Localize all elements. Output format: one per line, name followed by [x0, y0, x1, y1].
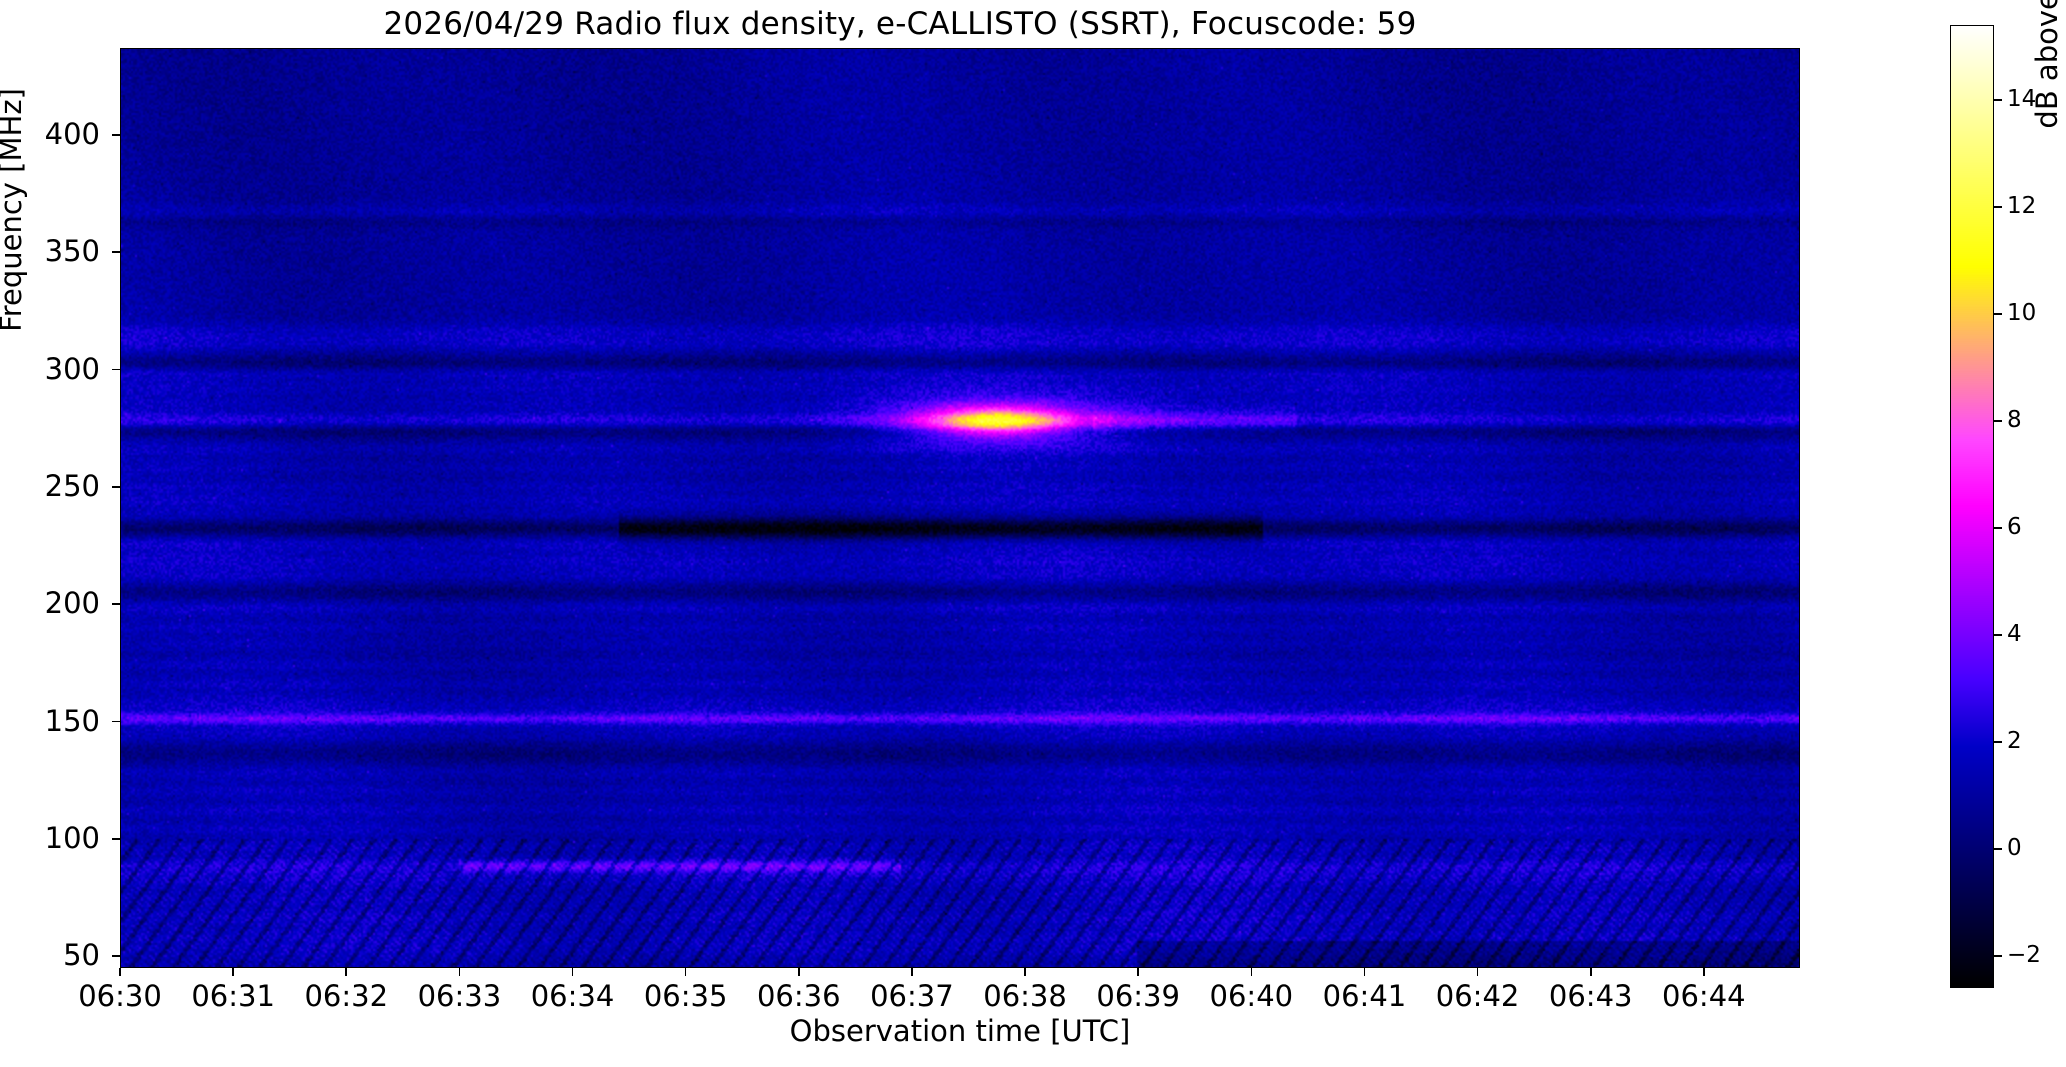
y-tick-label: 200	[16, 589, 100, 618]
colorbar-tick-label: 10	[2007, 302, 2066, 325]
x-tick-mark	[1024, 968, 1026, 976]
x-tick-mark	[1477, 968, 1479, 976]
colorbar-tick-label: −2	[2007, 944, 2066, 967]
colorbar-tick-label: 4	[2007, 623, 2066, 646]
x-tick-mark	[1364, 968, 1366, 976]
colorbar-label: dB above background	[2030, 0, 2064, 230]
x-tick-mark	[345, 968, 347, 976]
spectrogram-plot[interactable]	[120, 48, 1800, 968]
x-tick-mark	[685, 968, 687, 976]
x-tick-mark	[911, 968, 913, 976]
x-tick-mark	[1251, 968, 1253, 976]
y-tick-mark	[112, 721, 120, 723]
y-axis-label: Frequency [MHz]	[0, 50, 28, 370]
y-tick-mark	[112, 134, 120, 136]
x-tick-mark	[798, 968, 800, 976]
colorbar-tick-mark	[1994, 420, 2002, 422]
y-tick-mark	[112, 955, 120, 957]
x-tick-label: 06:44	[1629, 982, 1779, 1011]
page-title: 2026/04/29 Radio flux density, e-CALLIST…	[0, 6, 1800, 42]
y-tick-mark	[112, 838, 120, 840]
y-tick-mark	[112, 603, 120, 605]
colorbar-tick-mark	[1994, 955, 2002, 957]
colorbar-tick-label: 8	[2007, 409, 2066, 432]
x-tick-mark	[232, 968, 234, 976]
spectrogram-canvas[interactable]	[121, 49, 1799, 967]
colorbar-gradient	[1951, 26, 1993, 987]
y-tick-mark	[112, 251, 120, 253]
y-tick-label: 150	[16, 707, 100, 736]
y-tick-label: 250	[16, 472, 100, 501]
colorbar-tick-label: 6	[2007, 516, 2066, 539]
figure-root: 2026/04/29 Radio flux density, e-CALLIST…	[0, 0, 2066, 1067]
y-tick-mark	[112, 369, 120, 371]
colorbar-tick-mark	[1994, 527, 2002, 529]
x-tick-mark	[119, 968, 121, 976]
colorbar-tick-mark	[1994, 313, 2002, 315]
x-tick-mark	[572, 968, 574, 976]
x-tick-mark	[1137, 968, 1139, 976]
y-tick-label: 400	[16, 120, 100, 149]
colorbar-tick-mark	[1994, 206, 2002, 208]
colorbar-tick-mark	[1994, 634, 2002, 636]
colorbar-tick-mark	[1994, 99, 2002, 101]
colorbar-tick-mark	[1994, 741, 2002, 743]
x-tick-mark	[1703, 968, 1705, 976]
colorbar[interactable]	[1950, 25, 1994, 988]
colorbar-tick-label: 0	[2007, 837, 2066, 860]
y-tick-label: 300	[16, 355, 100, 384]
colorbar-tick-label: 2	[2007, 730, 2066, 753]
x-axis-label: Observation time [UTC]	[120, 1014, 1800, 1048]
x-tick-mark	[459, 968, 461, 976]
y-tick-label: 100	[16, 824, 100, 853]
x-tick-mark	[1590, 968, 1592, 976]
y-tick-label: 50	[16, 941, 100, 970]
y-tick-mark	[112, 486, 120, 488]
colorbar-tick-mark	[1994, 848, 2002, 850]
y-tick-label: 350	[16, 237, 100, 266]
